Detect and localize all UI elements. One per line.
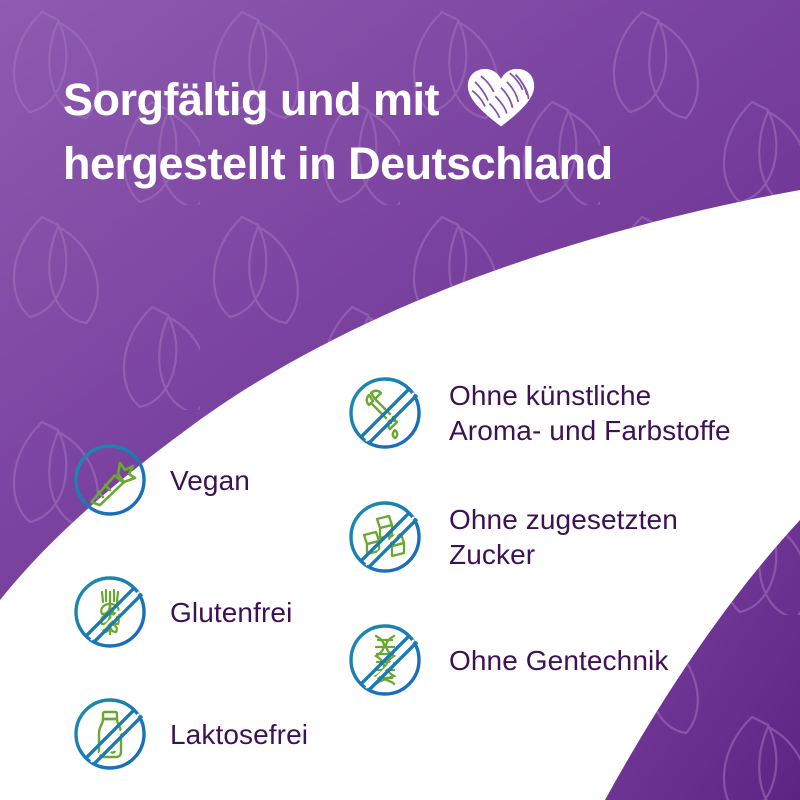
badge-label: Glutenfrei (170, 595, 292, 630)
badge-label: Ohne Gentechnik (449, 643, 668, 678)
badge-ohne-gentechnik: Ohne Gentechnik (347, 622, 668, 698)
badge-label: Vegan (170, 463, 250, 498)
headline-line-1: Sorgfältig und mit (63, 68, 439, 132)
milk-bottle-icon (72, 696, 148, 772)
wheat-icon (72, 574, 148, 650)
badge-label: Ohne zugesetzten Zucker (449, 502, 678, 572)
headline-block: Sorgfältig und mit (63, 68, 763, 196)
badge-laktosefrei: Laktosefrei (72, 696, 308, 772)
badge-label: Laktosefrei (170, 717, 308, 752)
badge-vegan: Vegan (72, 442, 250, 518)
promo-infographic: Sorgfältig und mit (0, 0, 800, 800)
headline-line-2: hergestellt in Deutschland (63, 132, 763, 196)
badge-ohne-kuenstliche-aroma-farbstoffe: Ohne künstliche Aroma- und Farbstoffe (347, 375, 731, 451)
carrot-icon (72, 442, 148, 518)
dna-helix-icon (347, 622, 423, 698)
dropper-icon (347, 375, 423, 451)
headline-line-1-row: Sorgfältig und mit (63, 68, 763, 132)
badge-ohne-zugesetzten-zucker: Ohne zugesetzten Zucker (347, 499, 678, 575)
sugar-cubes-icon (347, 499, 423, 575)
heart-sketch-icon (453, 66, 549, 128)
badge-label: Ohne künstliche Aroma- und Farbstoffe (449, 378, 731, 448)
badge-glutenfrei: Glutenfrei (72, 574, 292, 650)
